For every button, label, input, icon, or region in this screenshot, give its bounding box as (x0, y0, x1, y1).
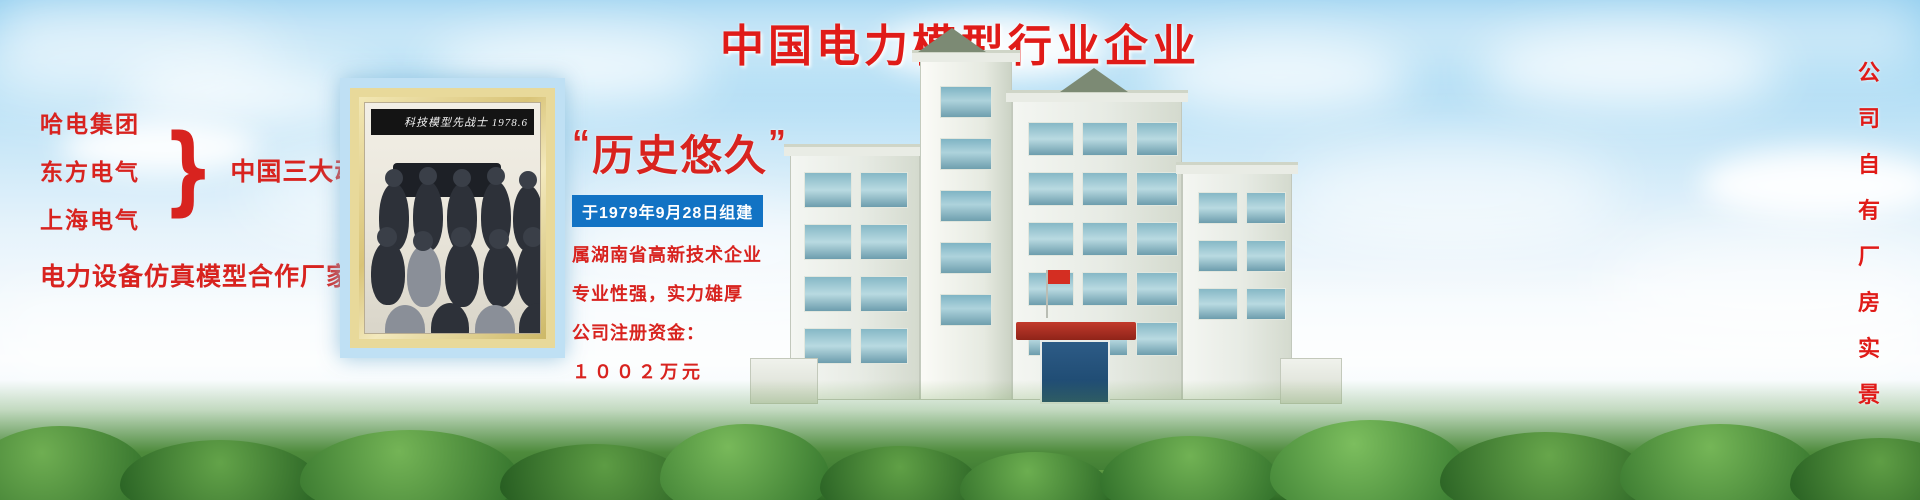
left-text-block: 哈电集团 东方电气 上海电气 } 中国三大动力 电力设备仿真模型合作厂家 (40, 105, 380, 293)
vertical-char-2: 司 (1858, 101, 1880, 133)
company-list: 哈电集团 东方电气 上海电气 (40, 105, 140, 235)
three-power-group: 哈电集团 东方电气 上海电气 } 中国三大动力 (40, 105, 380, 235)
company-name-3: 上海电气 (40, 201, 140, 235)
cooperation-line: 电力设备仿真模型合作厂家 (40, 257, 380, 293)
photo-inner: 科技模型先战士 1978.6 (364, 102, 541, 334)
vertical-char-4: 有 (1858, 193, 1880, 225)
flag-icon (1048, 270, 1070, 284)
entrance-canopy (1016, 322, 1136, 340)
company-name-2: 东方电气 (40, 153, 140, 187)
quote-open: “ (572, 122, 592, 163)
company-building-photo (760, 40, 1320, 420)
photo-people-figures (365, 137, 540, 333)
promotional-banner: 中国电力模型行业企业 哈电集团 东方电气 上海电气 } 中国三大动力 电力设备仿… (0, 0, 1920, 500)
vintage-group-photo: 科技模型先战士 1978.6 (340, 78, 565, 358)
vertical-char-1: 公 (1858, 55, 1880, 87)
photo-gold-frame: 科技模型先战士 1978.6 (350, 88, 555, 348)
vertical-char-6: 房 (1858, 285, 1880, 317)
company-name-1: 哈电集团 (40, 105, 140, 139)
vertical-char-5: 厂 (1858, 239, 1880, 271)
curly-brace-icon: } (163, 131, 214, 210)
vertical-char-7: 实 (1858, 331, 1880, 363)
photo-caption: 科技模型先战士 1978.6 (371, 109, 534, 135)
treeline (0, 390, 1920, 500)
vertical-char-8: 景 (1858, 377, 1880, 409)
history-title: 历史悠久 (592, 132, 768, 179)
founding-date-badge: 于1979年9月28日组建 (572, 195, 763, 227)
vertical-tagline: 公 司 自 有 厂 房 实 景 (1858, 55, 1880, 409)
vertical-char-3: 自 (1858, 147, 1880, 179)
